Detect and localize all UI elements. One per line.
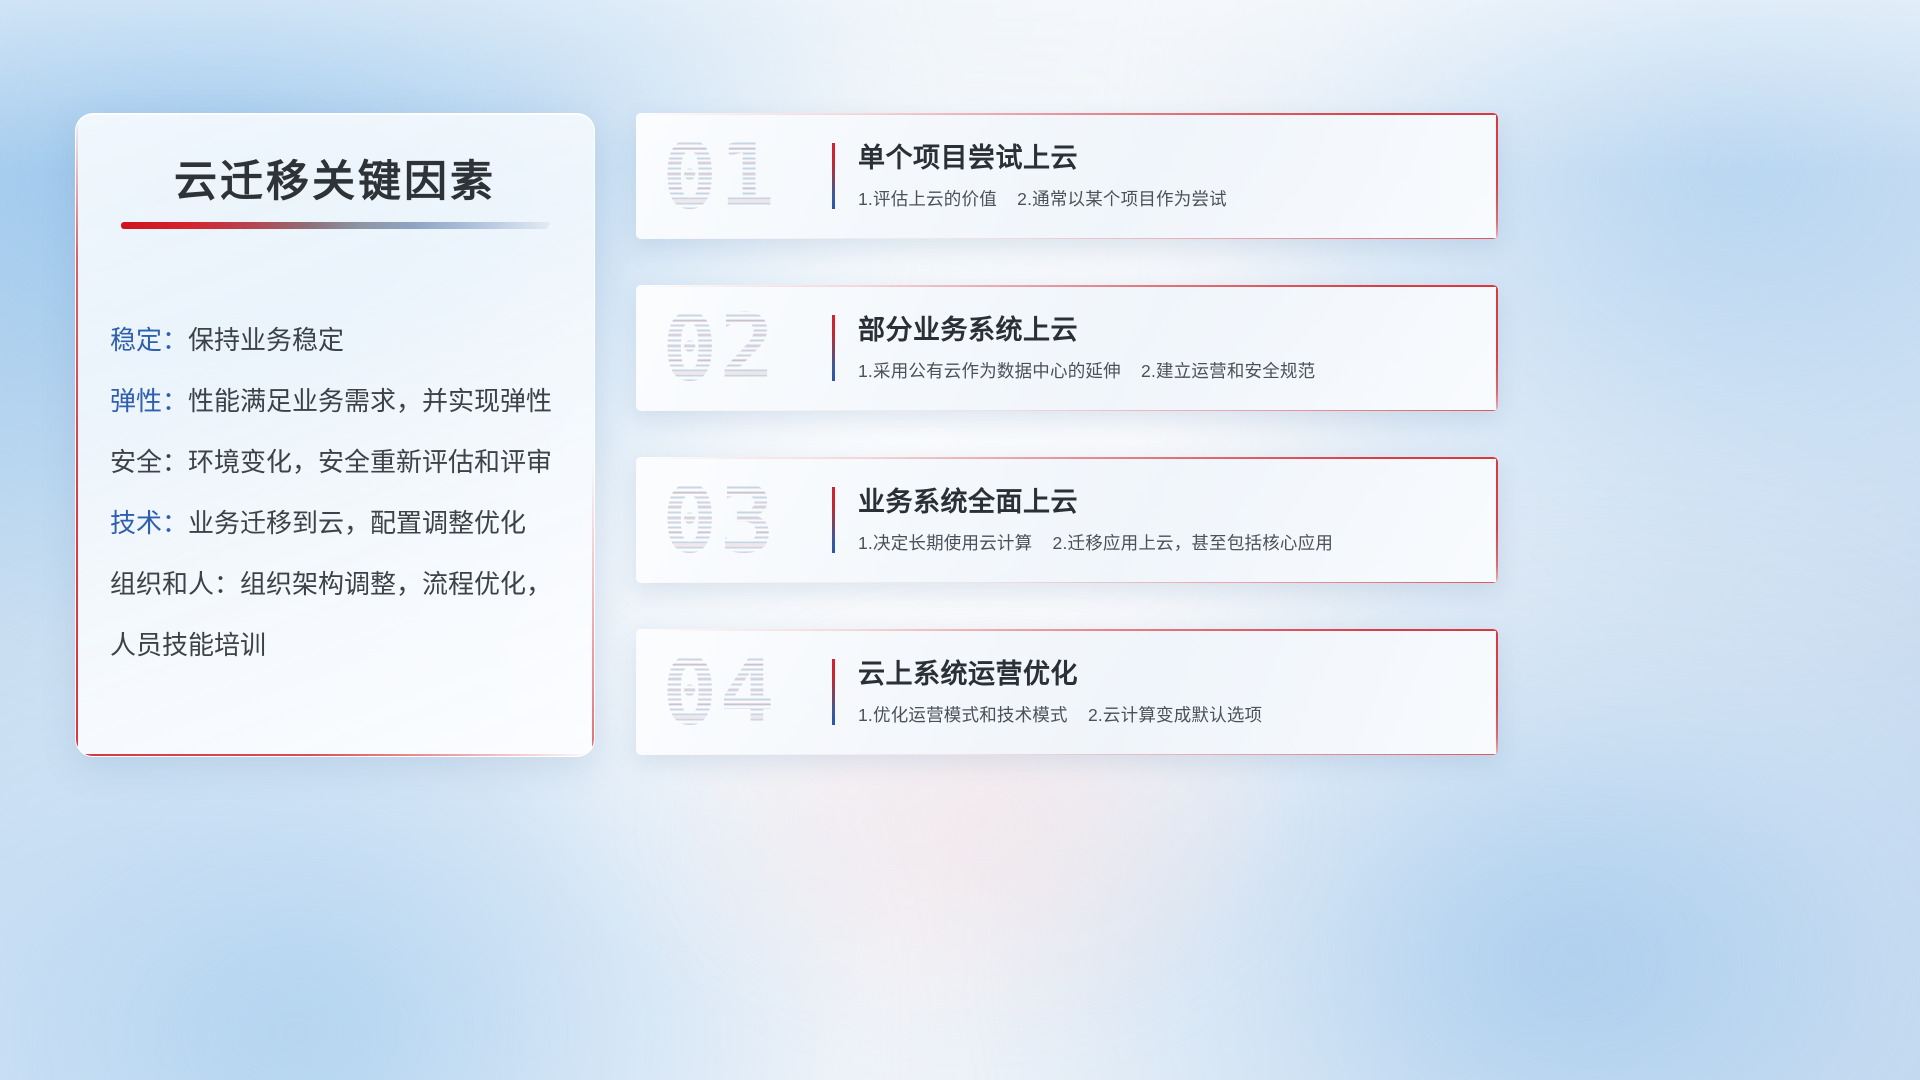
list-item: 安全：环境变化，安全重新评估和评审: [110, 432, 572, 493]
card-title: 部分业务系统上云: [858, 311, 1472, 349]
card-divider-bar: [832, 487, 835, 553]
key-factors-panel: 云迁移关键因素 稳定：保持业务稳定 弹性：性能满足业务需求，并实现弹性 安全：环…: [75, 113, 595, 757]
card-content: 单个项目尝试上云 1.评估上云的价值 2.通常以某个项目作为尝试: [858, 139, 1472, 211]
factor-label: 弹性：: [110, 386, 188, 416]
card-right-accent: [1496, 629, 1498, 755]
card-subtitle: 1.决定长期使用云计算 2.迁移应用上云，甚至包括核心应用: [858, 531, 1472, 555]
card-subtitle: 1.采用公有云作为数据中心的延伸 2.建立运营和安全规范: [858, 359, 1472, 383]
slide-stage: 云迁移关键因素 稳定：保持业务稳定 弹性：性能满足业务需求，并实现弹性 安全：环…: [0, 0, 1920, 1080]
stage-number-ghost-tint: 04: [662, 639, 777, 746]
card-right-accent: [1496, 457, 1498, 583]
card-right-accent: [1496, 285, 1498, 411]
stage-card[interactable]: 04 04 云上系统运营优化 1.优化运营模式和技术模式 2.云计算变成默认选项: [636, 629, 1498, 755]
card-subtitle: 1.评估上云的价值 2.通常以某个项目作为尝试: [858, 187, 1472, 211]
title-underline-gradient: [121, 222, 551, 229]
factor-text: 组织架构调整，流程优化，: [240, 569, 552, 599]
stage-number-ghost-tint: 02: [662, 295, 777, 402]
panel-right-accent-bar: [592, 461, 594, 756]
card-subtitle: 1.优化运营模式和技术模式 2.云计算变成默认选项: [858, 703, 1472, 727]
card-top-accent: [636, 629, 1498, 631]
card-bottom-accent: [636, 582, 1498, 583]
card-top-accent: [636, 457, 1498, 459]
list-item: 技术：业务迁移到云，配置调整优化: [110, 493, 572, 554]
factor-label: 组织和人：: [110, 569, 240, 599]
factor-text: 环境变化，安全重新评估和评审: [188, 447, 552, 477]
card-bottom-accent: [636, 238, 1498, 239]
card-divider-bar: [832, 315, 835, 381]
card-title: 单个项目尝试上云: [858, 139, 1472, 177]
stage-card[interactable]: 01 01 单个项目尝试上云 1.评估上云的价值 2.通常以某个项目作为尝试: [636, 113, 1498, 239]
factor-label: 安全：: [110, 447, 188, 477]
card-title: 云上系统运营优化: [858, 655, 1472, 693]
key-factors-list: 稳定：保持业务稳定 弹性：性能满足业务需求，并实现弹性 安全：环境变化，安全重新…: [110, 310, 572, 676]
list-item: 弹性：性能满足业务需求，并实现弹性: [110, 371, 572, 432]
card-content: 云上系统运营优化 1.优化运营模式和技术模式 2.云计算变成默认选项: [858, 655, 1472, 727]
list-item: 人员技能培训: [110, 615, 572, 676]
card-title: 业务系统全面上云: [858, 483, 1472, 521]
card-top-accent: [636, 285, 1498, 287]
factor-text: 性能满足业务需求，并实现弹性: [188, 386, 552, 416]
card-bottom-accent: [636, 754, 1498, 755]
factor-text: 保持业务稳定: [188, 325, 344, 355]
card-bottom-accent: [636, 410, 1498, 411]
factor-label: 稳定：: [110, 325, 188, 355]
list-item: 稳定：保持业务稳定: [110, 310, 572, 371]
card-content: 部分业务系统上云 1.采用公有云作为数据中心的延伸 2.建立运营和安全规范: [858, 311, 1472, 383]
factor-text: 业务迁移到云，配置调整优化: [188, 508, 526, 538]
stage-number-ghost-tint: 03: [662, 467, 777, 574]
factor-text: 人员技能培训: [110, 630, 266, 660]
list-item: 组织和人：组织架构调整，流程优化，: [110, 554, 572, 615]
card-divider-bar: [832, 659, 835, 725]
card-right-accent: [1496, 113, 1498, 239]
card-top-accent: [636, 113, 1498, 115]
panel-left-accent-bar: [76, 114, 78, 756]
stage-card[interactable]: 03 03 业务系统全面上云 1.决定长期使用云计算 2.迁移应用上云，甚至包括…: [636, 457, 1498, 583]
panel-bottom-accent-bar: [76, 754, 594, 756]
stage-number-ghost-tint: 01: [662, 123, 777, 230]
card-divider-bar: [832, 143, 835, 209]
page-title: 云迁移关键因素: [76, 147, 594, 209]
factor-label: 技术：: [110, 508, 188, 538]
stage-card[interactable]: 02 02 部分业务系统上云 1.采用公有云作为数据中心的延伸 2.建立运营和安…: [636, 285, 1498, 411]
card-content: 业务系统全面上云 1.决定长期使用云计算 2.迁移应用上云，甚至包括核心应用: [858, 483, 1472, 555]
